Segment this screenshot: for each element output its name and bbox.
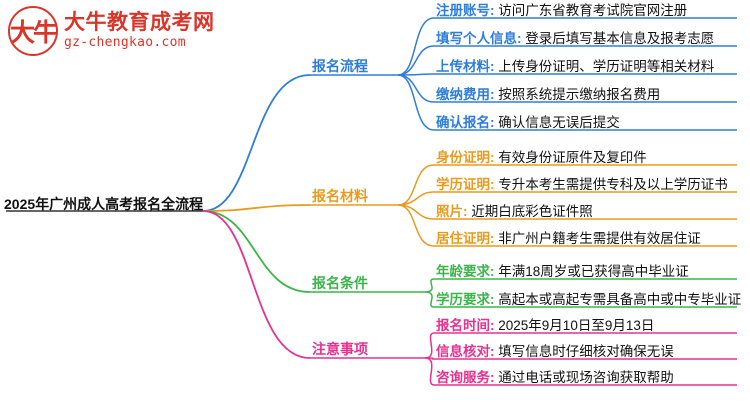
branch-label-conditions[interactable]: 报名条件 (312, 275, 368, 291)
logo-title: 大牛教育成考网 (64, 11, 215, 35)
branch-label-materials[interactable]: 报名材料 (312, 188, 368, 204)
leaf-process-4: 缴纳费用: 按照系统提示缴纳报名费用 (436, 87, 660, 103)
leaf-process-2: 填写个人信息: 登录后填写基本信息及报考志愿 (436, 31, 714, 47)
leaf-materials-4: 居住证明: 非广州户籍考生需提供有效居住证 (436, 231, 701, 247)
leaf-notes-1: 报名时间: 2025年9月10日至9月13日 (436, 318, 654, 334)
branch-label-notes[interactable]: 注意事项 (312, 341, 368, 357)
leaf-conditions-1: 年龄要求: 年满18周岁或已获得高中毕业证 (436, 264, 689, 280)
leaf-notes-3: 咨询服务: 通过电话或现场咨询获取帮助 (436, 370, 674, 386)
logo-subtitle: gz-chengkao.com (64, 35, 215, 51)
branch-label-process[interactable]: 报名流程 (312, 58, 368, 74)
leaf-conditions-2: 学历要求: 高起本或高起专需具备高中或中专毕业证 (436, 292, 741, 308)
leaf-process-5: 确认报名: 确认信息无误后提交 (436, 115, 620, 131)
mindmap-canvas: 大牛 大牛教育成考网 gz-chengkao.com (0, 0, 750, 410)
leaf-materials-1: 身份证明: 有效身份证原件及复印件 (436, 150, 647, 166)
leaf-process-3: 上传材料: 上传身份证明、学历证明等相关材料 (436, 59, 714, 75)
logo-mark-text: 大牛 (8, 6, 58, 56)
mindmap-root-label: 2025年广州成人高考报名全流程 (4, 196, 203, 212)
site-logo: 大牛 大牛教育成考网 gz-chengkao.com (8, 6, 215, 56)
leaf-materials-3: 照片: 近期白底彩色证件照 (436, 204, 593, 220)
leaf-process-1: 注册账号: 访问广东省教育考试院官网注册 (436, 3, 687, 19)
leaf-materials-2: 学历证明: 专升本考生需提供专科及以上学历证书 (436, 177, 728, 193)
logo-mark-icon: 大牛 (8, 6, 58, 56)
leaf-notes-2: 信息核对: 填写信息时仔细核对确保无误 (436, 344, 674, 360)
